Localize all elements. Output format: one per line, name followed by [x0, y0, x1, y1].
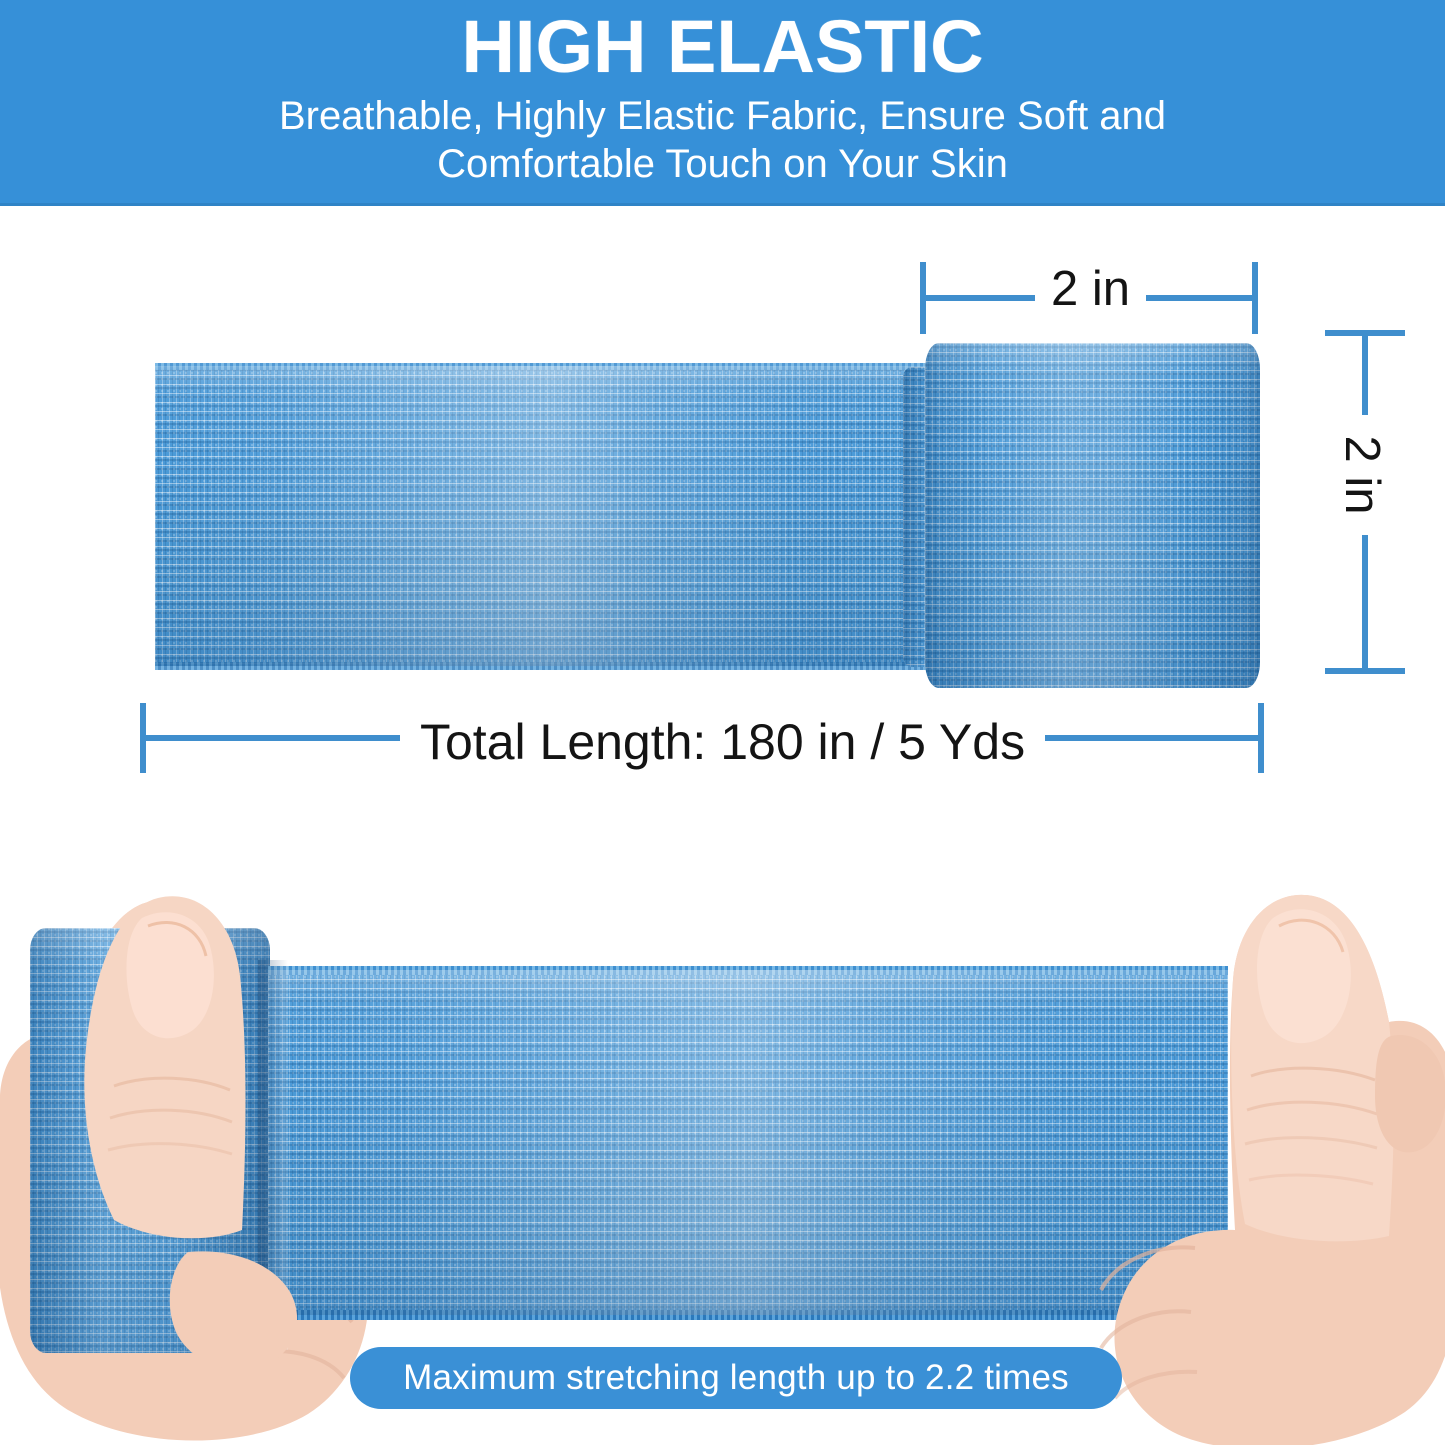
header-banner: HIGH ELASTIC Breathable, Highly Elastic …: [0, 0, 1445, 206]
left-index-finger: [170, 1251, 297, 1369]
stretch-badge-label: Maximum stretching length up to 2.2 time…: [403, 1358, 1069, 1398]
strip-top-edge: [155, 363, 945, 370]
header-subtitle-line-2: Comfortable Touch on Your Skin: [90, 140, 1355, 188]
product-infographic: HIGH ELASTIC Breathable, Highly Elastic …: [0, 0, 1445, 1445]
length-dimension-label: Total Length: 180 in / 5 Yds: [400, 708, 1045, 776]
width-dimension-label: 2 in: [1035, 257, 1146, 321]
bandage-roll: [925, 343, 1260, 688]
right-thumb-nail: [1257, 909, 1351, 1043]
strip-shading: [155, 366, 945, 666]
left-thumb-shape: [84, 896, 297, 1369]
roll-body: [925, 343, 1260, 688]
roll-vertical-shading: [925, 343, 1260, 688]
bandage-flat-strip: [155, 366, 945, 666]
header-subtitle: Breathable, Highly Elastic Fabric, Ensur…: [0, 92, 1445, 188]
strip-bottom-edge: [155, 662, 945, 670]
right-hand-shape: [1101, 895, 1445, 1445]
left-hand-thumb-foreground: [0, 800, 410, 1445]
header-subtitle-line-1: Breathable, Highly Elastic Fabric, Ensur…: [90, 92, 1355, 140]
height-dimension-label: 2 in: [1327, 415, 1397, 535]
right-hand: [1045, 800, 1445, 1445]
roll-cylinder-shading: [925, 343, 1260, 688]
strip-sheen: [155, 366, 945, 666]
page-title: HIGH ELASTIC: [0, 6, 1445, 88]
stretch-badge: Maximum stretching length up to 2.2 time…: [350, 1347, 1122, 1409]
